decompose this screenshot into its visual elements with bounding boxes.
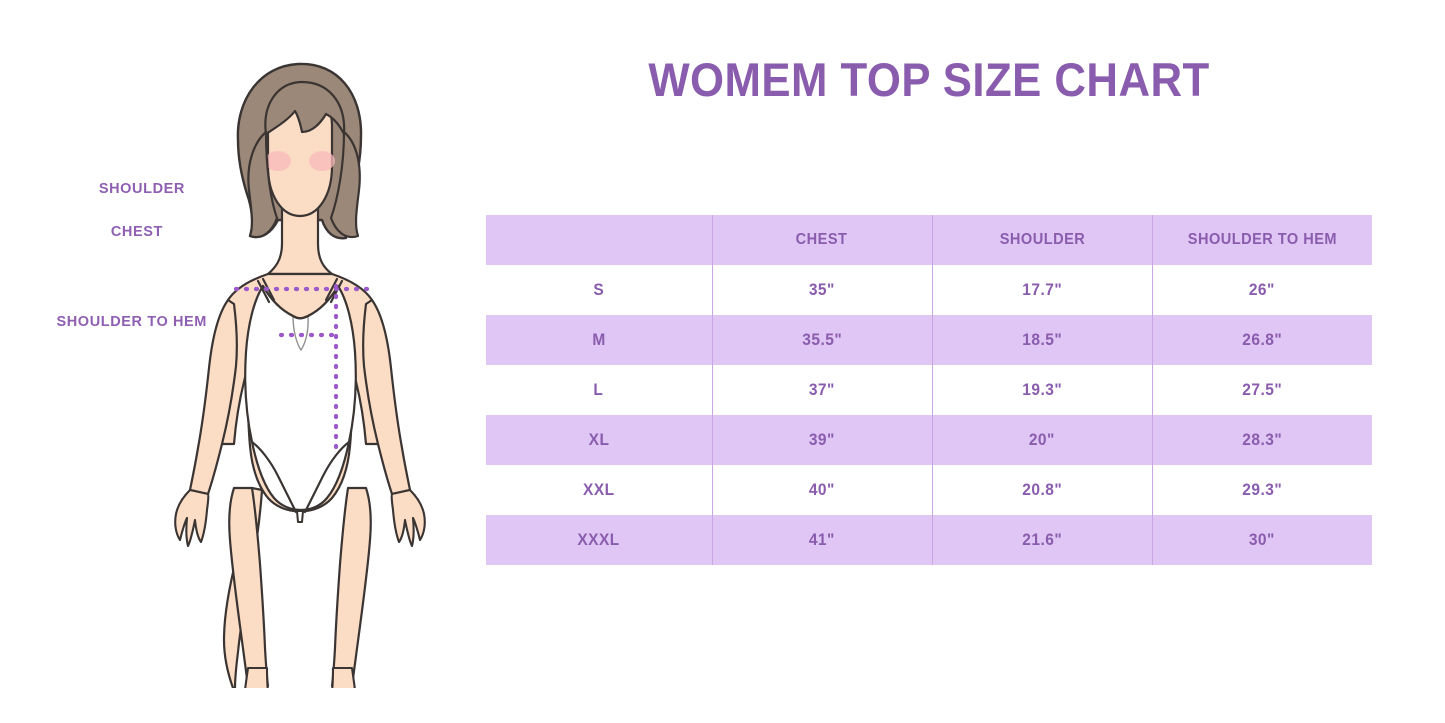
- cell-shoulder: 20": [932, 415, 1152, 465]
- cell-size: S: [486, 265, 712, 315]
- cell-chest: 41": [712, 515, 932, 565]
- hand-left-shape: [175, 490, 208, 546]
- cell-size: M: [486, 315, 712, 365]
- cell-chest: 35": [712, 265, 932, 315]
- table-row: S 35" 17.7" 26": [486, 265, 1372, 315]
- page-title: WOMEM TOP SIZE CHART: [517, 52, 1341, 107]
- cell-size: XL: [486, 415, 712, 465]
- blush-right-icon: [309, 151, 335, 171]
- cell-shoulder-to-hem: 27.5": [1152, 365, 1372, 415]
- cell-shoulder: 18.5": [932, 315, 1152, 365]
- table-row: XXL 40" 20.8" 29.3": [486, 465, 1372, 515]
- cell-shoulder: 17.7": [932, 265, 1152, 315]
- table-row: L 37" 19.3" 27.5": [486, 365, 1372, 415]
- cell-chest: 35.5": [712, 315, 932, 365]
- table-header-row: CHEST SHOULDER SHOULDER TO HEM: [486, 215, 1372, 265]
- cell-chest: 39": [712, 415, 932, 465]
- cell-chest: 37": [712, 365, 932, 415]
- cell-size: XXL: [486, 465, 712, 515]
- arm-left-shape: [190, 300, 237, 494]
- cell-shoulder: 19.3": [932, 365, 1152, 415]
- hand-right-shape: [392, 490, 425, 546]
- table-row: XL 39" 20" 28.3": [486, 415, 1372, 465]
- woman-figure-group: [175, 64, 425, 688]
- column-header-shoulder-to-hem: SHOULDER TO HEM: [1152, 215, 1372, 265]
- body-figure-illustration: [150, 48, 450, 688]
- measurement-label-chest: CHEST: [0, 224, 163, 240]
- column-header-chest: CHEST: [712, 215, 932, 265]
- size-chart-page: WOMEM TOP SIZE CHART SHOULDER CHEST SHOU…: [0, 0, 1445, 723]
- cell-shoulder-to-hem: 26.8": [1152, 315, 1372, 365]
- table-row: M 35.5" 18.5" 26.8": [486, 315, 1372, 365]
- cell-shoulder: 20.8": [932, 465, 1152, 515]
- cell-shoulder-to-hem: 26": [1152, 265, 1372, 315]
- table-row: XXXL 41" 21.6" 30": [486, 515, 1372, 565]
- cell-shoulder-to-hem: 30": [1152, 515, 1372, 565]
- cell-shoulder-to-hem: 29.3": [1152, 465, 1372, 515]
- column-header-size: [486, 215, 712, 265]
- column-header-shoulder: SHOULDER: [932, 215, 1152, 265]
- arm-right-shape: [363, 300, 410, 494]
- foot-left-shape: [243, 668, 271, 688]
- cell-shoulder: 21.6": [932, 515, 1152, 565]
- cell-shoulder-to-hem: 28.3": [1152, 415, 1372, 465]
- garment-bodysuit-shape: [245, 286, 356, 510]
- garment-gusset-shape: [297, 511, 303, 522]
- blush-left-icon: [265, 151, 291, 171]
- cell-chest: 40": [712, 465, 932, 515]
- size-chart-table: CHEST SHOULDER SHOULDER TO HEM S 35" 17.…: [486, 215, 1372, 565]
- foot-right-shape: [329, 668, 357, 688]
- cell-size: XXXL: [486, 515, 712, 565]
- leg-right-full-shape: [332, 488, 371, 686]
- cell-size: L: [486, 365, 712, 415]
